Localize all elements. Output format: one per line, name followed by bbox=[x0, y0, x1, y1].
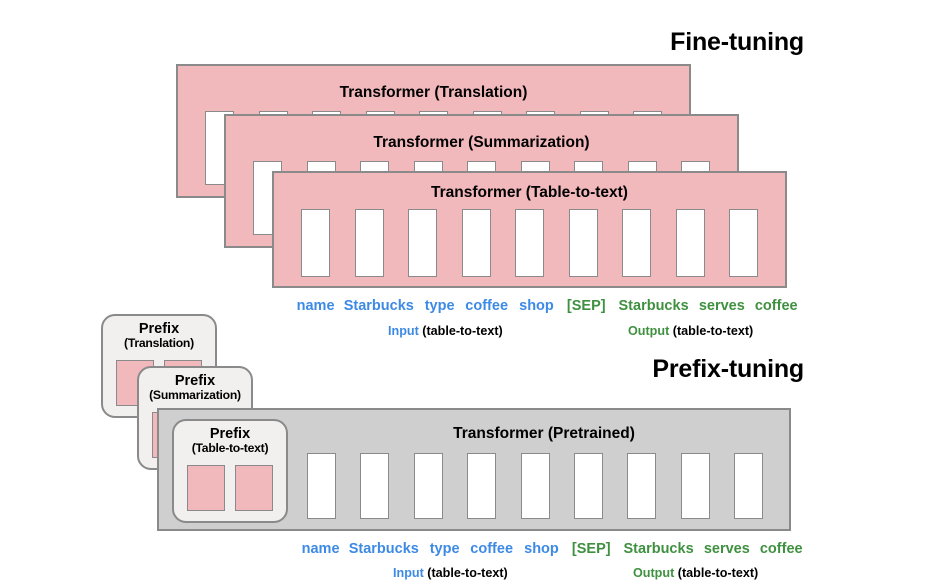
token-output-2: serves bbox=[694, 298, 749, 314]
prefix-tuning-token-row: name Starbucks type coffee shop [SEP] St… bbox=[298, 541, 808, 557]
token-output-0: [SEP] bbox=[565, 541, 618, 557]
transformer-slab-table-to-text: Transformer (Table-to-text) bbox=[272, 171, 787, 288]
fine-tuning-token-row: name Starbucks type coffee shop [SEP] St… bbox=[293, 298, 803, 314]
output-caption-task: (table-to-text) bbox=[669, 324, 753, 338]
fine-tuning-title: Fine-tuning bbox=[670, 28, 804, 57]
prefix-card-table-to-text: Prefix (Table-to-text) bbox=[172, 419, 288, 523]
token-input-0: name bbox=[293, 298, 338, 314]
token-cell bbox=[574, 453, 603, 519]
token-input-3: coffee bbox=[465, 541, 518, 557]
prefix-card-summarization-subtitle: (Summarization) bbox=[139, 389, 251, 401]
fine-tuning-output-caption: Output (table-to-text) bbox=[628, 324, 753, 338]
token-cell bbox=[355, 209, 384, 277]
prefix-bar bbox=[235, 465, 273, 511]
token-cell bbox=[360, 453, 389, 519]
token-output-2: serves bbox=[699, 541, 754, 557]
token-cell bbox=[729, 209, 758, 277]
token-output-3: coffee bbox=[754, 541, 807, 557]
token-cell bbox=[515, 209, 544, 277]
transformer-slab-pretrained-label: Transformer (Pretrained) bbox=[299, 425, 789, 443]
token-output-1: Starbucks bbox=[613, 298, 694, 314]
prefix-bar bbox=[187, 465, 225, 511]
output-caption-task: (table-to-text) bbox=[674, 566, 758, 580]
transformer-slab-table-to-text-cells bbox=[301, 209, 758, 277]
prefix-card-summarization-heading: Prefix bbox=[175, 373, 215, 389]
prefix-card-table-to-text-bars bbox=[187, 465, 273, 511]
prefix-tuning-title: Prefix-tuning bbox=[652, 355, 804, 384]
token-cell bbox=[734, 453, 763, 519]
token-input-1: Starbucks bbox=[343, 541, 424, 557]
transformer-slab-pretrained-cells bbox=[307, 453, 763, 519]
prefix-card-table-to-text-heading: Prefix bbox=[210, 426, 250, 442]
token-input-4: shop bbox=[513, 298, 559, 314]
token-cell bbox=[301, 209, 330, 277]
token-cell bbox=[414, 453, 443, 519]
token-input-4: shop bbox=[518, 541, 564, 557]
prefix-card-table-to-text-title: Prefix (Table-to-text) bbox=[174, 427, 286, 454]
token-input-2: type bbox=[424, 541, 465, 557]
token-input-1: Starbucks bbox=[338, 298, 419, 314]
token-cell bbox=[307, 453, 336, 519]
input-caption-task: (table-to-text) bbox=[424, 566, 508, 580]
token-output-0: [SEP] bbox=[560, 298, 613, 314]
token-cell bbox=[462, 209, 491, 277]
token-cell bbox=[521, 453, 550, 519]
transformer-slab-translation-label: Transformer (Translation) bbox=[178, 84, 689, 102]
output-caption-label: Output bbox=[633, 566, 674, 580]
token-cell bbox=[622, 209, 651, 277]
prefix-tuning-output-caption: Output (table-to-text) bbox=[633, 566, 758, 580]
prefix-card-translation-subtitle: (Translation) bbox=[103, 337, 215, 349]
token-cell bbox=[569, 209, 598, 277]
token-cell bbox=[676, 209, 705, 277]
token-output-3: coffee bbox=[749, 298, 802, 314]
input-caption-task: (table-to-text) bbox=[419, 324, 503, 338]
token-cell bbox=[408, 209, 437, 277]
fine-tuning-input-caption: Input (table-to-text) bbox=[388, 324, 503, 338]
prefix-tuning-input-caption: Input (table-to-text) bbox=[393, 566, 508, 580]
token-cell bbox=[627, 453, 656, 519]
prefix-card-table-to-text-subtitle: (Table-to-text) bbox=[174, 442, 286, 454]
prefix-card-summarization-title: Prefix (Summarization) bbox=[139, 374, 251, 401]
token-input-3: coffee bbox=[460, 298, 513, 314]
input-caption-label: Input bbox=[393, 566, 424, 580]
input-caption-label: Input bbox=[388, 324, 419, 338]
token-cell bbox=[467, 453, 496, 519]
transformer-slab-summarization-label: Transformer (Summarization) bbox=[226, 134, 737, 152]
token-input-0: name bbox=[298, 541, 343, 557]
token-input-2: type bbox=[419, 298, 460, 314]
diagram-canvas: Fine-tuning Transformer (Translation) Tr… bbox=[0, 0, 952, 588]
transformer-slab-table-to-text-label: Transformer (Table-to-text) bbox=[274, 184, 785, 202]
token-cell bbox=[681, 453, 710, 519]
prefix-card-translation-title: Prefix (Translation) bbox=[103, 322, 215, 349]
prefix-card-translation-heading: Prefix bbox=[139, 321, 179, 337]
output-caption-label: Output bbox=[628, 324, 669, 338]
token-output-1: Starbucks bbox=[618, 541, 699, 557]
